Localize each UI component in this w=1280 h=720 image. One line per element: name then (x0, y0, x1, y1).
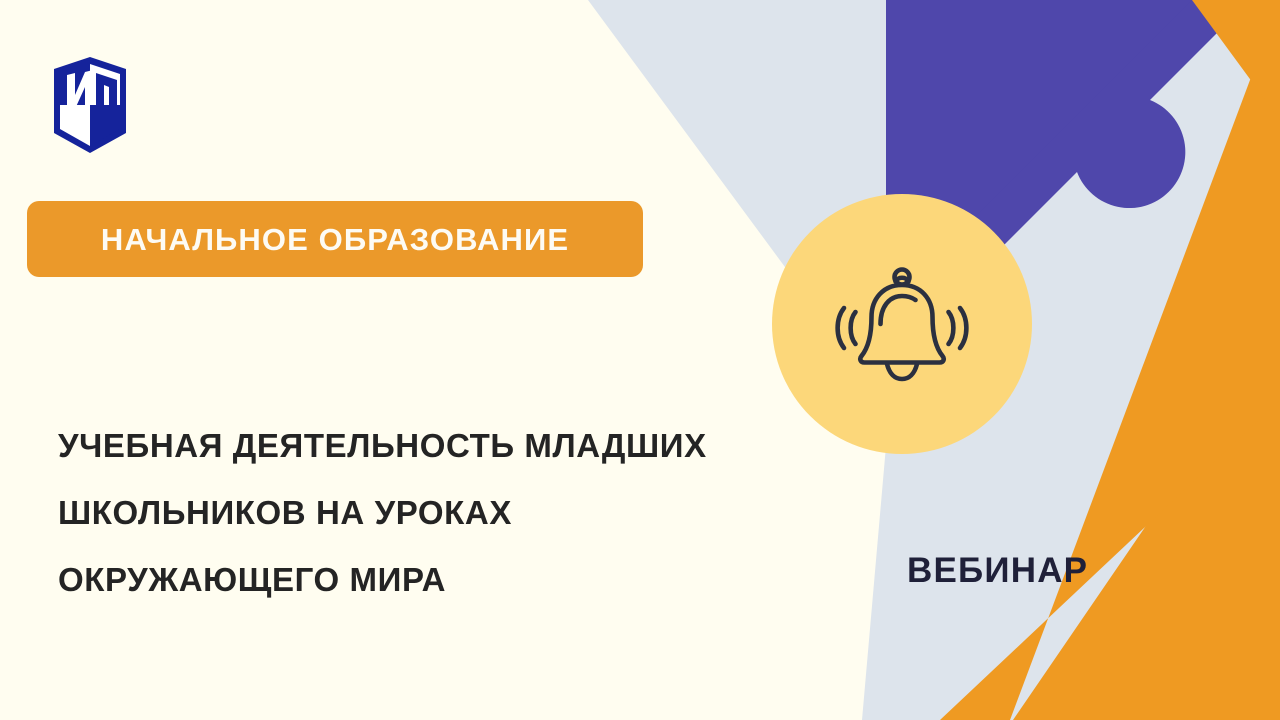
bell-wave-left-inner (838, 308, 844, 348)
bell-wave-right-inner (960, 308, 966, 348)
ringing-bell-glyph (828, 254, 976, 394)
bell-wave-left-outer (851, 312, 856, 344)
ip-logo-mark (52, 55, 128, 155)
page-title-line-3: ОКРУЖАЮЩЕГО МИРА (58, 546, 848, 613)
webinar-kicker: ВЕБИНАР (907, 553, 1088, 588)
page-title-line-2: ШКОЛЬНИКОВ НА УРОКАХ (58, 479, 848, 546)
bell-inner-arc (881, 296, 916, 324)
bell-clapper (887, 364, 917, 379)
webinar-kicker-label: ВЕБИНАР (907, 551, 1088, 590)
ringing-bell-icon (828, 254, 976, 394)
bell-wave-right-outer (949, 312, 954, 344)
category-badge-label: НАЧАЛЬНОЕ ОБРАЗОВАНИЕ (101, 224, 569, 255)
ip-logo[interactable] (52, 55, 128, 155)
page-title-line-1: УЧЕБНАЯ ДЕЯТЕЛЬНОСТЬ МЛАДШИХ (58, 412, 848, 479)
webinar-title-slide: НАЧАЛЬНОЕ ОБРАЗОВАНИЕ (0, 0, 1280, 720)
category-badge[interactable]: НАЧАЛЬНОЕ ОБРАЗОВАНИЕ (27, 201, 643, 277)
page-title: УЧЕБНАЯ ДЕЯТЕЛЬНОСТЬ МЛАДШИХ ШКОЛЬНИКОВ … (58, 412, 848, 613)
